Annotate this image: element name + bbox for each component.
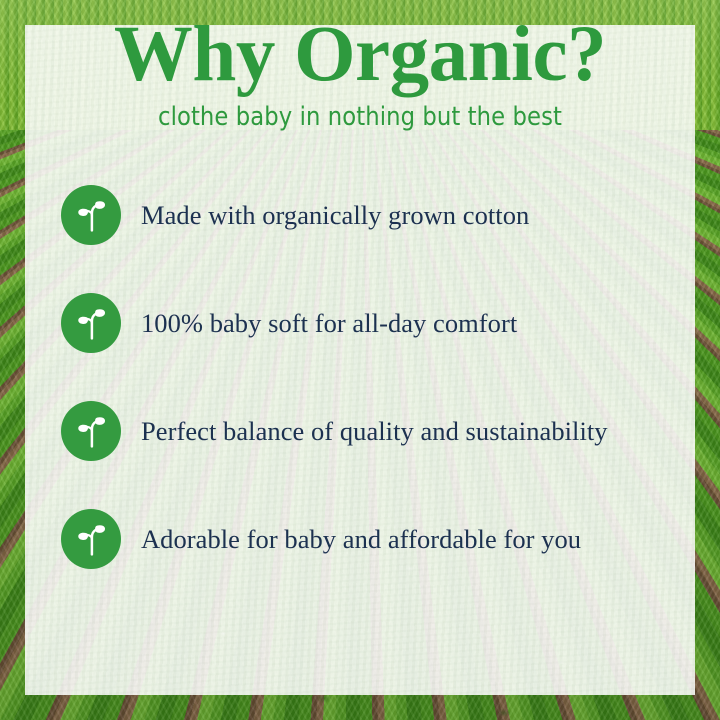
sprout-icon xyxy=(61,401,121,461)
benefits-list: Made with organically grown cotton 100% … xyxy=(61,184,700,570)
page-title: Why Organic? xyxy=(0,15,720,94)
list-item: Made with organically grown cotton xyxy=(61,184,700,246)
sprout-icon xyxy=(61,293,121,353)
why-organic-poster: Why Organic? clothe baby in nothing but … xyxy=(0,0,720,720)
list-item-label: Perfect balance of quality and sustainab… xyxy=(141,416,608,446)
list-item: 100% baby soft for all-day comfort xyxy=(61,292,700,354)
list-item-label: 100% baby soft for all-day comfort xyxy=(141,308,517,338)
sprout-icon xyxy=(61,509,121,569)
list-item-label: Made with organically grown cotton xyxy=(141,200,529,230)
poster-content: Why Organic? clothe baby in nothing but … xyxy=(0,0,720,720)
list-item: Adorable for baby and affordable for you xyxy=(61,508,700,570)
list-item-label: Adorable for baby and affordable for you xyxy=(141,524,581,554)
list-item: Perfect balance of quality and sustainab… xyxy=(61,400,700,462)
sprout-icon xyxy=(61,185,121,245)
page-subtitle: clothe baby in nothing but the best xyxy=(11,103,709,132)
